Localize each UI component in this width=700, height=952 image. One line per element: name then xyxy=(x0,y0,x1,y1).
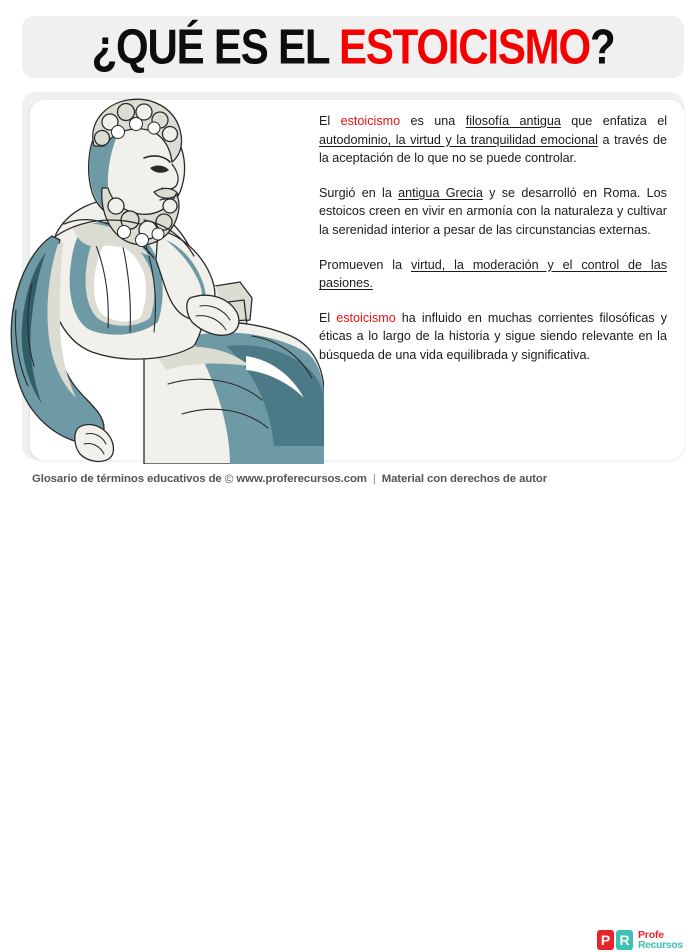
title-banner: ¿QUÉ ES EL ESTOICISMO? xyxy=(22,16,684,78)
p1-keyword-filosofia-antigua: filosofía antigua xyxy=(466,114,561,128)
logo-box-r: R xyxy=(616,930,633,950)
footer-credit: Glosario de términos educativos de © www… xyxy=(32,462,547,495)
footer-glossary-label: Glosario de términos educativos de xyxy=(32,473,222,485)
p2-keyword-antigua-grecia: antigua Grecia xyxy=(398,186,483,200)
page-title: ¿QUÉ ES EL ESTOICISMO? xyxy=(92,19,615,76)
paragraph-3: Promueven la virtud, la moderación y el … xyxy=(319,256,667,293)
p1-keyword-autodominio: autodominio, la virtud y la tranquilidad… xyxy=(319,133,598,147)
p1-keyword-estoicismo: estoicismo xyxy=(341,114,401,128)
proferecursos-logo[interactable]: P R Profe Recursos xyxy=(597,928,689,952)
title-highlight: ESTOICISMO xyxy=(339,19,590,74)
title-suffix: ? xyxy=(590,19,614,74)
logo-word-profe: Profe xyxy=(638,930,683,940)
logo-box-p: P xyxy=(597,930,614,950)
paragraph-1: El estoicismo es una filosofía antigua q… xyxy=(319,112,667,168)
footer-bar: Glosario de términos educativos de © www… xyxy=(0,462,700,495)
article-text-column: El estoicismo es una filosofía antigua q… xyxy=(319,112,667,365)
p1-seg-2: es una xyxy=(400,114,466,128)
footer-separator: | xyxy=(373,473,376,485)
p4-keyword-estoicismo: estoicismo xyxy=(336,311,396,325)
paragraph-2: Surgió en la antigua Grecia y se desarro… xyxy=(319,184,667,240)
logo-wordmark: Profe Recursos xyxy=(638,930,683,950)
copyright-icon: © xyxy=(225,472,234,486)
greek-philosopher-statue-illustration xyxy=(0,84,324,464)
footer-rights-label: Material con derechos de autor xyxy=(382,473,547,485)
p4-seg-0: El xyxy=(319,311,336,325)
p2-seg-0: Surgió en la xyxy=(319,186,398,200)
p3-seg-0: Promueven la xyxy=(319,258,411,272)
title-prefix: ¿QUÉ ES EL xyxy=(92,19,339,74)
logo-word-recursos: Recursos xyxy=(638,940,683,950)
paragraph-4: El estoicismo ha influido en muchas corr… xyxy=(319,309,667,365)
p1-seg-0: El xyxy=(319,114,341,128)
p1-seg-4: que enfatiza el xyxy=(561,114,667,128)
footer-website[interactable]: www.proferecursos.com xyxy=(236,473,366,485)
